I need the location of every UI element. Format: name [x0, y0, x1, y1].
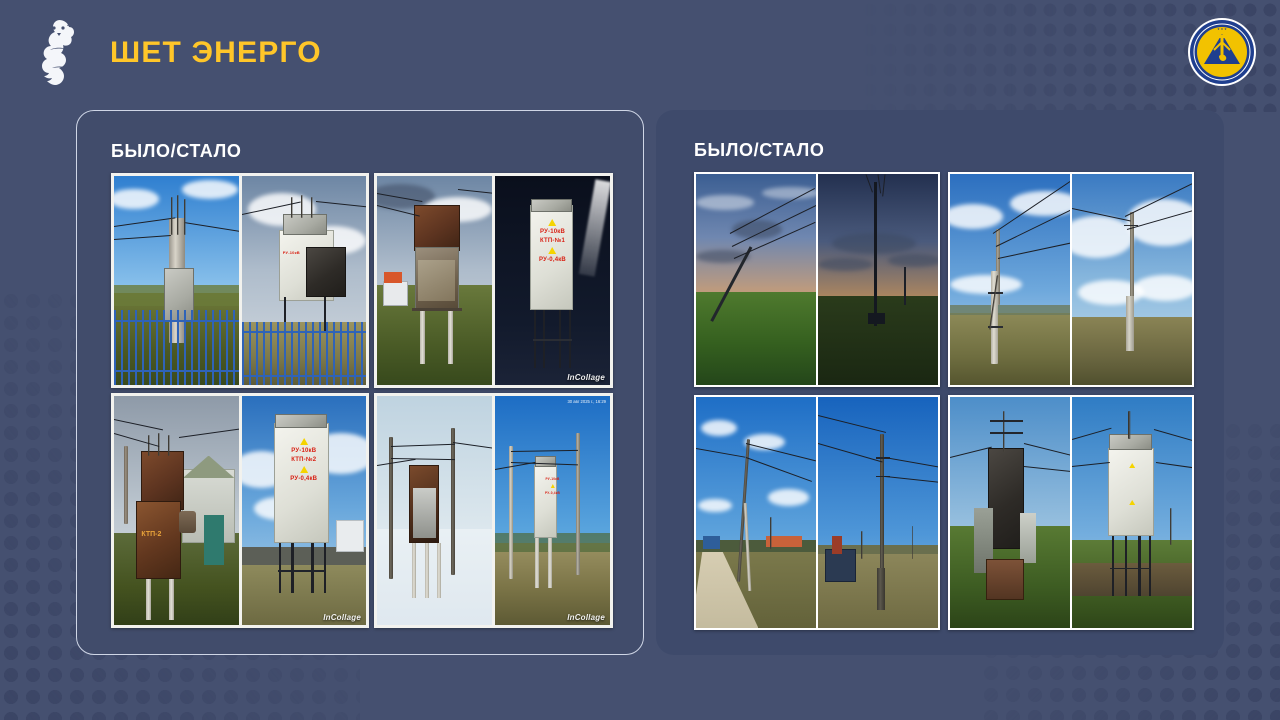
collage-watermark: InCollage: [323, 613, 361, 622]
collage-item[interactable]: РУ-10кВ КТП-№1 РУ-0,4кВ InCollage: [374, 173, 613, 388]
collage-item[interactable]: [948, 395, 1194, 630]
photo-before: [377, 396, 492, 625]
photo-before: [114, 176, 239, 385]
electric-company-seal-icon: ★ ★ ★: [1186, 16, 1258, 88]
page-header: ШЕТ ЭНЕРГО ★ ★ ★: [0, 0, 1280, 112]
photo-before: [377, 176, 492, 385]
panel-before-after-substations: БЫЛО/СТАЛО: [76, 110, 644, 655]
collage-item[interactable]: [948, 172, 1194, 387]
label-ru-04kv: РУ-0,4кВ: [264, 476, 344, 482]
label-ktp: КТП-№1: [516, 238, 590, 244]
collage-item[interactable]: [694, 395, 940, 630]
label-ru-04kv: РУ-0,4кВ: [516, 257, 590, 263]
photo-timestamp: 30 авг 2025 г., 16:29: [567, 399, 606, 405]
photo-before: [950, 174, 1070, 385]
collage-item[interactable]: [694, 172, 940, 387]
collage-item[interactable]: РУ-10кВ РУ-0,4кВ 30 авг 2025 г., 16:29 I…: [374, 393, 613, 628]
photo-after: РУ-10кВ КТП-№1 РУ-0,4кВ InCollage: [495, 176, 610, 385]
old-ktp-stencil: КТП-2: [141, 531, 161, 549]
label-ru-10kv: РУ-10кВ: [516, 229, 590, 235]
photo-after: РУ-10кВ КТП-№2 РУ-0,4кВ InCollage: [242, 396, 367, 625]
collage-item[interactable]: РУ-10кВ: [111, 173, 369, 388]
collage-watermark: InCollage: [567, 613, 605, 622]
photo-after: [1072, 397, 1192, 628]
panel-title-left: БЫЛО/СТАЛО: [111, 141, 241, 162]
photo-after: РУ-10кВ РУ-0,4кВ 30 авг 2025 г., 16:29 I…: [495, 396, 610, 625]
photo-before: КТП-2: [114, 396, 239, 625]
photo-after: [818, 397, 938, 628]
photo-before: [696, 397, 816, 628]
snow-leopard-lion-emblem-icon: [20, 14, 98, 98]
collage-grid-left: РУ-10кВ: [111, 173, 613, 633]
label-ktp: КТП-№2: [264, 457, 344, 463]
photo-before: [950, 397, 1070, 628]
photo-after: [1072, 174, 1192, 385]
panel-before-after-poles: БЫЛО/СТАЛО: [656, 110, 1224, 655]
photo-after: РУ-10кВ: [242, 176, 367, 385]
photo-after: [818, 174, 938, 385]
panel-title-right: БЫЛО/СТАЛО: [694, 140, 824, 161]
photo-before: [696, 174, 816, 385]
collage-grid-right: [694, 172, 1194, 632]
collage-watermark: InCollage: [567, 373, 605, 382]
label-ru-10kv: РУ-10кВ: [264, 448, 344, 454]
page-title: ШЕТ ЭНЕРГО: [110, 36, 322, 70]
collage-item[interactable]: КТП-2: [111, 393, 369, 628]
svg-text:★ ★ ★: ★ ★ ★: [1217, 27, 1227, 31]
